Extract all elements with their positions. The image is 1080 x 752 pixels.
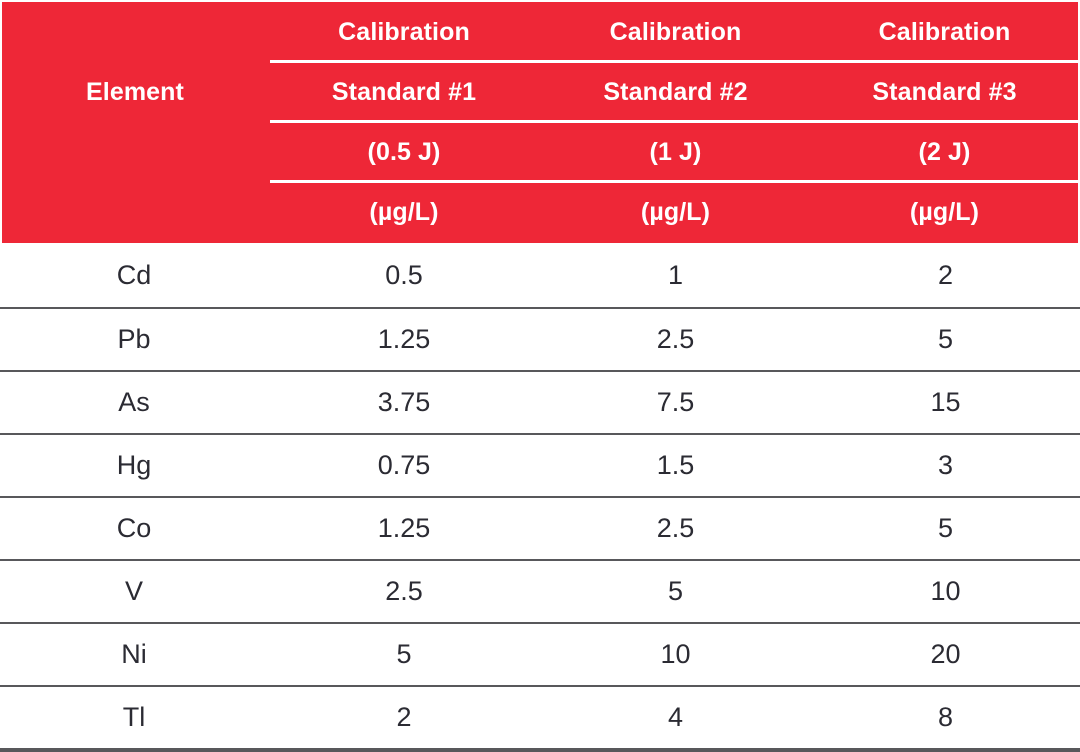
table-row: Co 1.25 2.5 5 (0, 498, 1080, 561)
table-row: Hg 0.75 1.5 3 (0, 435, 1080, 498)
cell-std1: 2.5 (268, 561, 540, 622)
cell-std2: 1 (540, 243, 811, 307)
cell-std1: 1.25 (268, 498, 540, 559)
cell-std2: 10 (540, 624, 811, 685)
header-divider-3 (270, 180, 1078, 183)
cell-std2: 5 (540, 561, 811, 622)
cell-std3: 10 (811, 561, 1080, 622)
column-header-std2-unit: (µg/L) (540, 182, 811, 243)
column-header-std3-energy: (2 J) (811, 122, 1078, 182)
cell-std2: 2.5 (540, 498, 811, 559)
table-header: Element Calibration Calibration Calibrat… (2, 2, 1078, 243)
column-header-std3-line1: Calibration (811, 2, 1078, 62)
table-row: Pb 1.25 2.5 5 (0, 309, 1080, 372)
cell-std3: 20 (811, 624, 1080, 685)
table-row: Ni 5 10 20 (0, 624, 1080, 687)
column-header-std2-line2: Standard #2 (540, 62, 811, 122)
cell-std1: 3.75 (268, 372, 540, 433)
header-divider-2 (270, 120, 1078, 123)
cell-std1: 0.75 (268, 435, 540, 496)
column-header-std2-energy: (1 J) (540, 122, 811, 182)
table-row: V 2.5 5 10 (0, 561, 1080, 624)
cell-std3: 5 (811, 309, 1080, 370)
header-divider-1 (270, 60, 1078, 63)
calibration-standards-table: Element Calibration Calibration Calibrat… (0, 0, 1080, 744)
cell-std2: 1.5 (540, 435, 811, 496)
column-header-std3-line2: Standard #3 (811, 62, 1078, 122)
cell-element: V (0, 561, 268, 622)
cell-std3: 15 (811, 372, 1080, 433)
table-row: Cd 0.5 1 2 (0, 243, 1080, 309)
column-header-element: Element (2, 2, 268, 243)
cell-std3: 5 (811, 498, 1080, 559)
column-header-std1-line2: Standard #1 (268, 62, 540, 122)
cell-std1: 1.25 (268, 309, 540, 370)
cell-std3: 8 (811, 687, 1080, 748)
cell-std3: 2 (811, 243, 1080, 307)
column-header-std2-line1: Calibration (540, 2, 811, 62)
column-header-std3-unit: (µg/L) (811, 182, 1078, 243)
cell-element: Cd (0, 243, 268, 307)
cell-std1: 0.5 (268, 243, 540, 307)
cell-std2: 7.5 (540, 372, 811, 433)
column-header-std1-unit: (µg/L) (268, 182, 540, 243)
column-header-std1-energy: (0.5 J) (268, 122, 540, 182)
cell-std2: 4 (540, 687, 811, 748)
cell-std1: 2 (268, 687, 540, 748)
column-header-std1-line1: Calibration (268, 2, 540, 62)
cell-std2: 2.5 (540, 309, 811, 370)
cell-element: Ni (0, 624, 268, 685)
cell-element: Co (0, 498, 268, 559)
cell-element: Tl (0, 687, 268, 748)
table-body: Cd 0.5 1 2 Pb 1.25 2.5 5 As 3.75 7.5 15 … (0, 243, 1080, 752)
cell-std1: 5 (268, 624, 540, 685)
cell-element: As (0, 372, 268, 433)
cell-std3: 3 (811, 435, 1080, 496)
cell-element: Pb (0, 309, 268, 370)
table-row: As 3.75 7.5 15 (0, 372, 1080, 435)
table-row: Tl 2 4 8 (0, 687, 1080, 752)
cell-element: Hg (0, 435, 268, 496)
